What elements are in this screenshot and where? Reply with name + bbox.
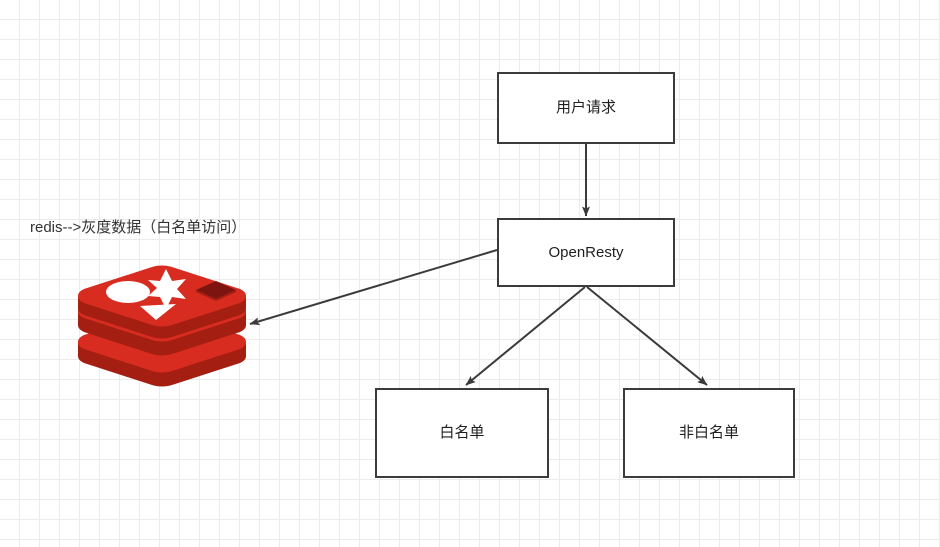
diagram-canvas: 用户请求 OpenResty 白名单 非白名单 redis-->灰度数据（白名单… bbox=[0, 0, 940, 547]
node-openresty[interactable]: OpenResty bbox=[497, 218, 675, 287]
node-user-request-label: 用户请求 bbox=[556, 99, 616, 117]
redis-logo bbox=[74, 264, 250, 388]
node-openresty-label: OpenResty bbox=[548, 244, 623, 262]
node-whitelist-label: 白名单 bbox=[439, 424, 484, 442]
node-non-whitelist[interactable]: 非白名单 bbox=[623, 388, 795, 478]
edge-openresty-to-redis bbox=[250, 250, 497, 324]
redis-logo-ellipse-mark bbox=[106, 281, 150, 303]
node-non-whitelist-label: 非白名单 bbox=[679, 424, 739, 442]
redis-caption-label: redis-->灰度数据（白名单访问） bbox=[30, 216, 246, 237]
edge-openresty-to-non-whitelist bbox=[587, 287, 707, 385]
node-user-request[interactable]: 用户请求 bbox=[497, 72, 675, 144]
edge-openresty-to-whitelist bbox=[466, 287, 585, 385]
node-whitelist[interactable]: 白名单 bbox=[375, 388, 549, 478]
